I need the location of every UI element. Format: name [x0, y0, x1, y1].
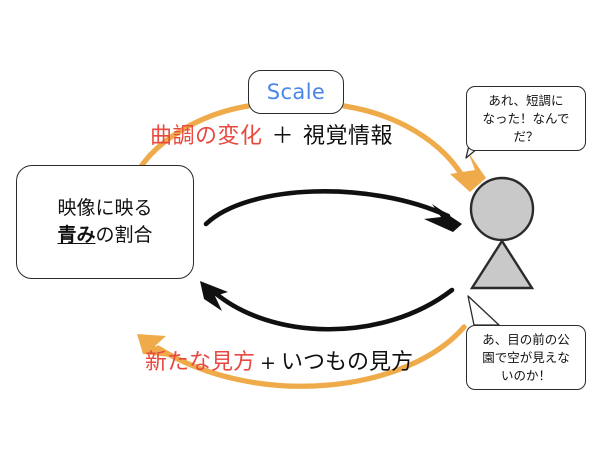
speech-bubble-bottom-line1: あ、目の前の公 — [474, 331, 578, 349]
speech-bubble-top-line3: だ？ — [474, 128, 578, 146]
listener-figure — [466, 175, 538, 293]
person-head-icon — [471, 178, 533, 240]
speech-bubble-top-line2: なった！なんで — [474, 110, 578, 128]
speech-bubble-top-line1: あれ、短調に — [474, 92, 578, 110]
speech-bubble-bottom-line2: 園で空が見えな — [474, 349, 578, 367]
bubble-tail-bottom — [468, 296, 499, 325]
speech-bubble-bottom-line3: いのか！ — [474, 367, 578, 385]
person-body-icon — [472, 241, 532, 288]
speech-bubble-bottom: あ、目の前の公 園で空が見えな いのか！ — [466, 325, 586, 390]
speech-bubble-top: あれ、短調に なった！なんで だ？ — [466, 86, 586, 151]
diagram-canvas: Scale 映像に映る 青みの割合 曲調の変化＋視覚情報 新たな見方+いつもの見… — [0, 0, 600, 450]
